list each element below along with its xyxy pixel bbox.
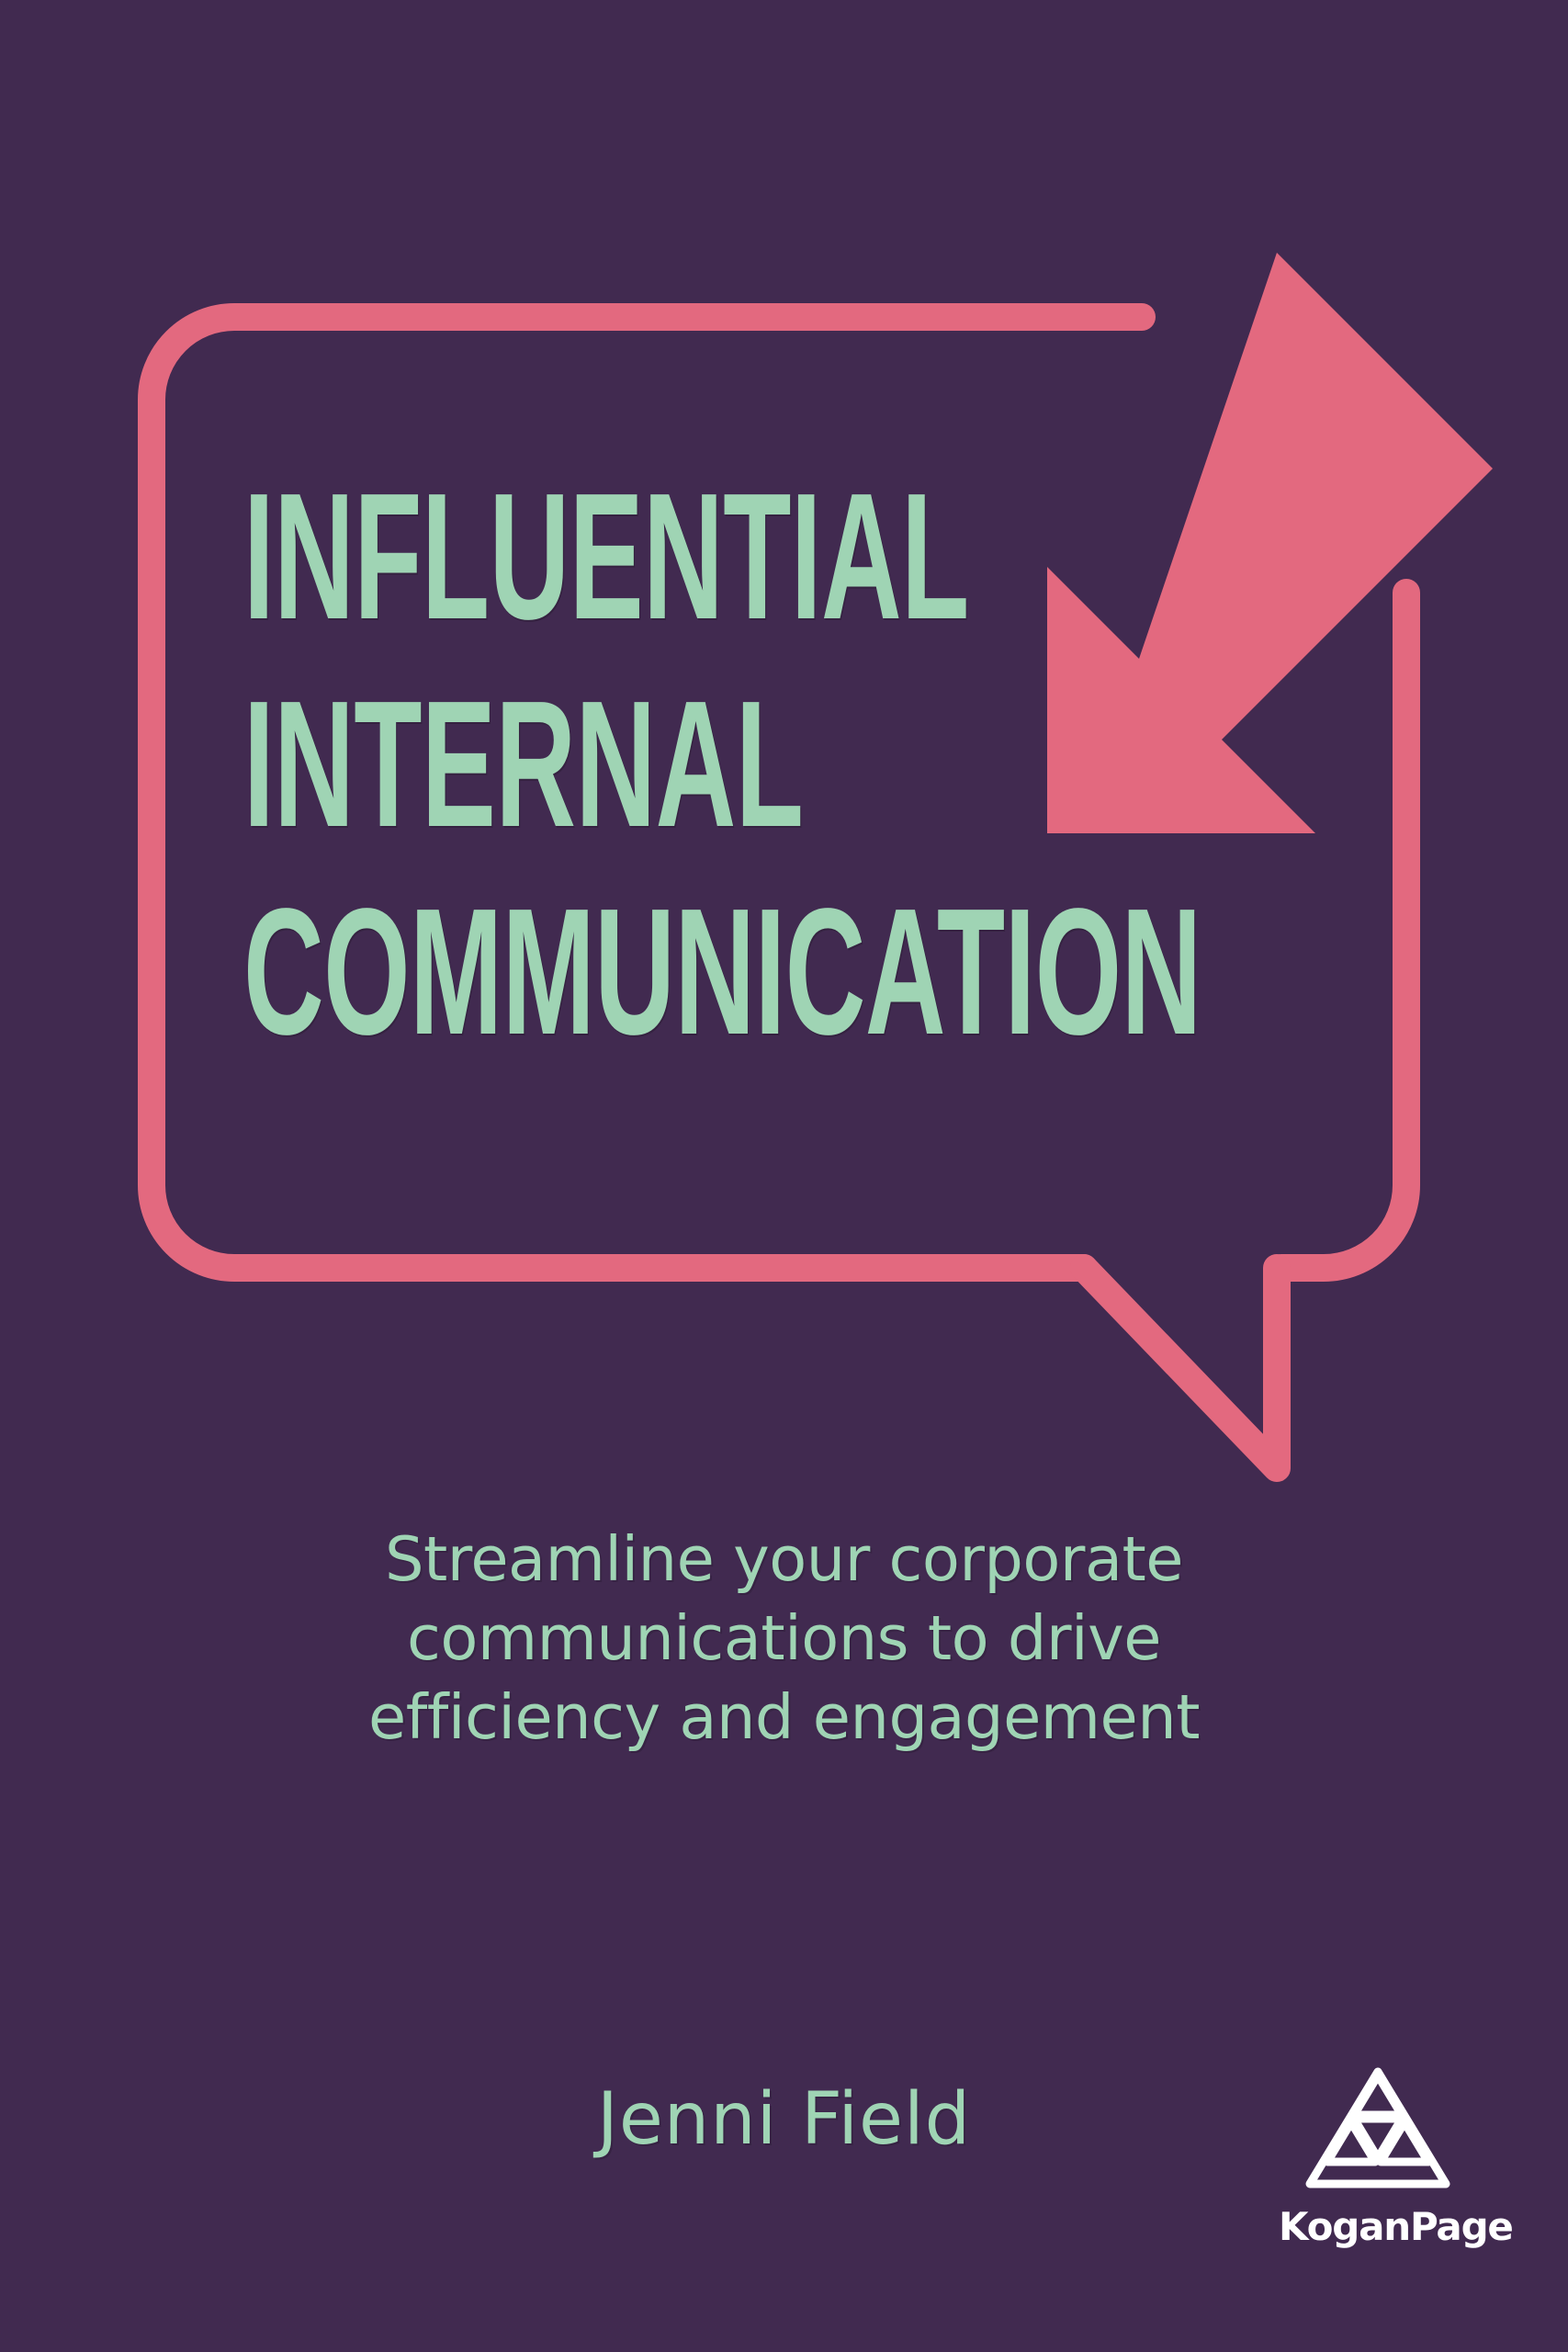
subtitle-line-2: communications to drive	[0, 1600, 1568, 1679]
title-line-1: INFLUENTIAL	[243, 469, 927, 645]
book-cover: INFLUENTIAL INTERNAL COMMUNICATION Strea…	[0, 0, 1568, 2352]
cover-graphics	[0, 0, 1568, 2352]
title-line-2: INTERNAL	[243, 676, 927, 853]
title-line-3: COMMUNICATION	[243, 884, 927, 1060]
publisher-name: KoganPage	[1279, 2204, 1476, 2249]
publisher-logo: KoganPage	[1279, 2063, 1476, 2260]
kogan-page-triangle-icon	[1301, 2063, 1455, 2200]
subtitle-line-1: Streamline your corporate	[0, 1521, 1568, 1600]
subtitle-line-3: efficiency and engagement	[0, 1679, 1568, 1758]
page-title: INFLUENTIAL INTERNAL COMMUNICATION	[243, 469, 1346, 1060]
subtitle: Streamline your corporate communications…	[0, 1521, 1568, 1757]
